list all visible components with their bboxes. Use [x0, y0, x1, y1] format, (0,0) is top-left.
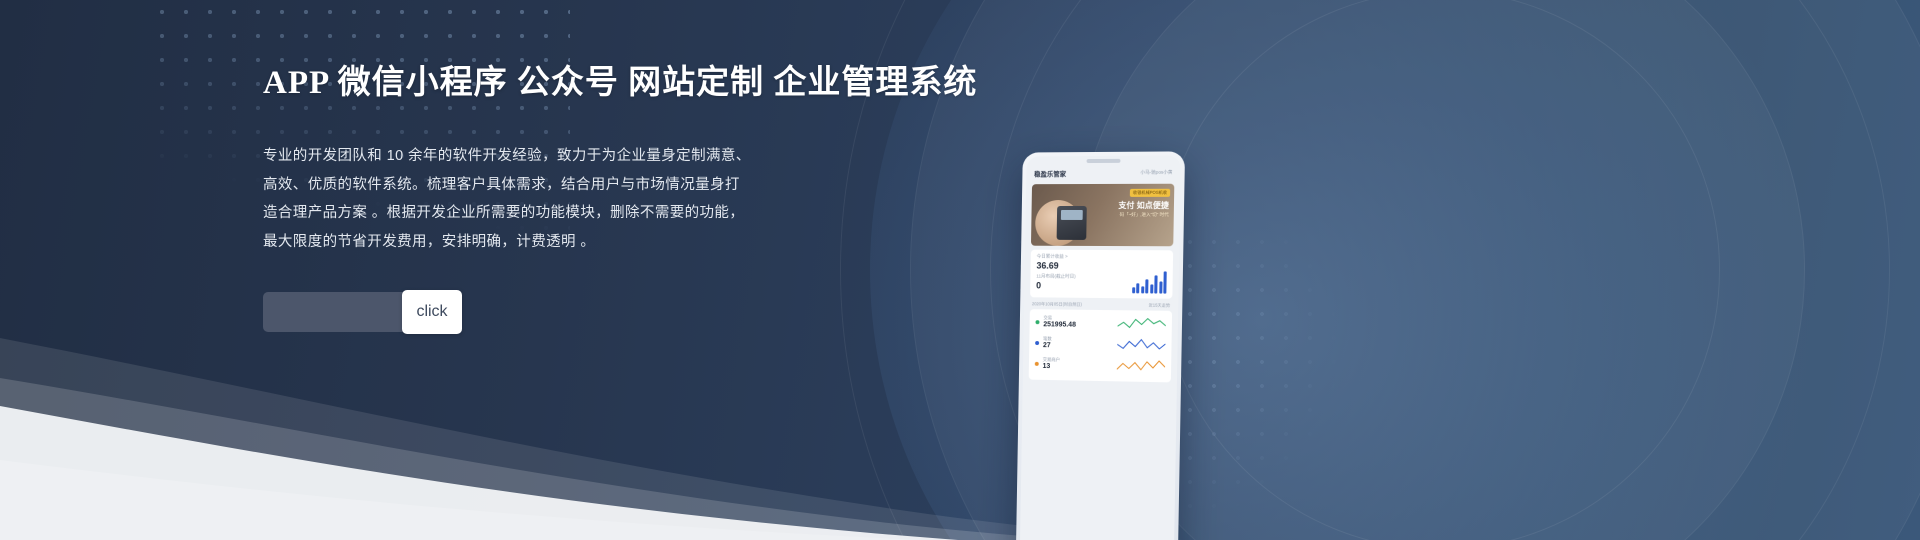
stats-date: 2020年10月05日(时自然日) [1032, 301, 1082, 308]
sparkline-bars [1132, 271, 1167, 293]
click-button[interactable]: click [402, 290, 462, 334]
promo-banner[interactable]: 收银机械POS机收 支付 如点便捷 码「~好」,进入"切" 时代 [1031, 184, 1174, 247]
app-title: 稳盈乐管家 [1034, 168, 1066, 178]
status-dot-icon [1036, 320, 1040, 324]
stat-row: 笔数 27 [1035, 334, 1166, 353]
description-line-2: 高效、优质的软件系统。梳理客户具体需求，结合用户与市场情况量身打 [263, 171, 963, 200]
description-line-3: 造合理产品方案 。根据开发企业所需要的功能模块，删除不需要的功能， [263, 199, 963, 228]
stat-value: 27 [1043, 342, 1113, 350]
app-account: 小马-驰pos小黄 [1140, 170, 1172, 176]
stat-line-chart [1117, 356, 1165, 374]
description-line-4: 最大限度的节省开发费用，安排明确，计费透明 。 [263, 228, 963, 257]
stat-row: 交易 251995.48 [1035, 313, 1166, 332]
stat-value: 251995.48 [1043, 321, 1113, 329]
hero-banner: APP 微信小程序 公众号 网站定制 企业管理系统 专业的开发团队和 10 余年… [0, 0, 1920, 540]
promo-subline: 码「~好」,进入"切" 时代 [1120, 212, 1169, 218]
today-earnings-label: 今日累计收益 > [1037, 254, 1167, 261]
stat-line-chart [1117, 314, 1165, 332]
phone-mockup: 稳盈乐管家 小马-驰pos小黄 收银机械POS机收 支付 如点便捷 码「~好」,… [1016, 151, 1185, 540]
earnings-card[interactable]: 今日累计收益 > 36.69 11月布局(截止时日) 0 [1030, 250, 1173, 299]
stat-line-chart [1117, 335, 1165, 353]
page-title: APP 微信小程序 公众号 网站定制 企业管理系统 [263, 55, 963, 103]
stats-card: 交易 251995.48 笔数 27 [1029, 309, 1172, 382]
today-earnings-value: 36.69 [1036, 261, 1166, 272]
status-dot-icon [1035, 341, 1039, 345]
promo-badge: 收银机械POS机收 [1130, 189, 1170, 197]
description-line-1: 专业的开发团队和 10 余年的软件开发经验，致力于为企业量身定制满意、 [263, 142, 963, 171]
status-dot-icon [1035, 361, 1039, 365]
stat-row: 交易商户 13 [1035, 355, 1166, 374]
cta-group: click [263, 292, 461, 332]
app-header: 稳盈乐管家 小马-驰pos小黄 [1026, 165, 1181, 183]
stat-value: 13 [1043, 363, 1113, 371]
stats-range: 近15天走势 [1149, 303, 1171, 309]
phone-screen: 稳盈乐管家 小马-驰pos小黄 收银机械POS机收 支付 如点便捷 码「~好」,… [1020, 155, 1181, 540]
promo-headline: 支付 如点便捷 [1118, 200, 1169, 211]
pos-terminal-illustration [1057, 206, 1087, 240]
hero-description: 专业的开发团队和 10 余年的软件开发经验，致力于为企业量身定制满意、 高效、优… [263, 142, 963, 256]
phone-notch [1086, 158, 1120, 162]
hero-content: APP 微信小程序 公众号 网站定制 企业管理系统 专业的开发团队和 10 余年… [263, 55, 963, 332]
